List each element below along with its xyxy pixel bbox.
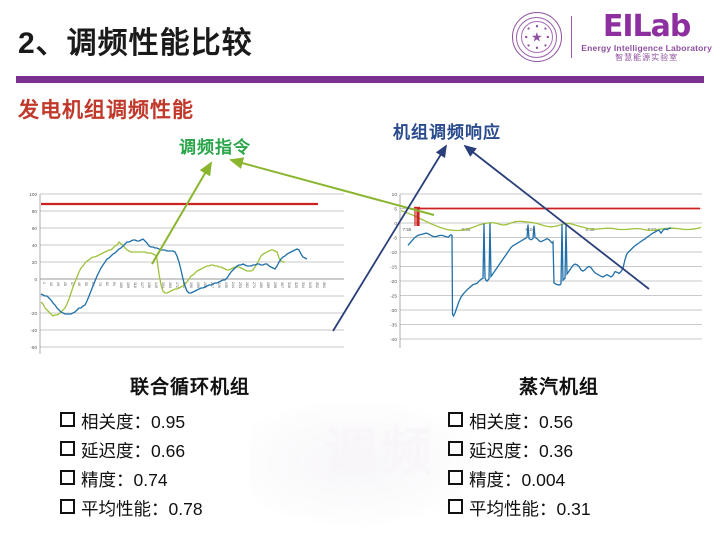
caption-combined-cycle: 联合循环机组: [130, 372, 250, 399]
svg-text:-60: -60: [30, 345, 37, 350]
checkbox-icon: [60, 412, 75, 427]
svg-text:28: 28: [63, 282, 67, 286]
svg-text:109: 109: [126, 282, 130, 288]
combined-cycle-chart: 100 80 60 40 20 0 -20 -40 -60 1 10 19 28…: [14, 186, 346, 358]
checkbox-icon: [448, 499, 463, 514]
metric-row: 相关度： 0.95: [60, 408, 203, 437]
svg-text:-30: -30: [390, 308, 397, 314]
metric-value: 0.78: [169, 495, 203, 524]
svg-text:-25: -25: [390, 294, 397, 300]
svg-text:352: 352: [315, 282, 319, 288]
svg-text:100: 100: [119, 282, 123, 288]
metrics-list-combined-cycle: 相关度： 0.95 延迟度： 0.66 精度： 0.74 平均性能： 0.78: [60, 408, 203, 524]
logo-divider: [571, 16, 573, 58]
svg-text:100: 100: [29, 192, 37, 197]
metric-label: 平均性能：: [81, 495, 169, 524]
svg-text:316: 316: [287, 282, 291, 288]
svg-text:136: 136: [147, 282, 151, 288]
checkbox-icon: [448, 470, 463, 485]
svg-text:271: 271: [252, 282, 256, 288]
metric-row: 精度： 0.004: [448, 466, 591, 495]
svg-text:262: 262: [245, 282, 249, 288]
seal-star-icon: ★: [531, 31, 543, 44]
svg-text:91: 91: [112, 282, 116, 286]
svg-text:253: 253: [238, 282, 242, 288]
checkbox-icon: [448, 412, 463, 427]
metric-row: 延迟度： 0.66: [60, 437, 203, 466]
annotation-label-command: 调频指令: [179, 133, 251, 158]
metric-row: 平均性能： 0.31: [448, 495, 591, 524]
svg-text:235: 235: [224, 282, 228, 288]
lab-logo: ★ EILab Energy Intelligence Laboratory 智…: [512, 8, 712, 66]
svg-text:289: 289: [266, 282, 270, 288]
svg-text:60: 60: [32, 226, 38, 231]
svg-text:127: 127: [140, 282, 144, 288]
metric-label: 延迟度：: [81, 437, 151, 466]
metric-label: 精度：: [81, 466, 134, 495]
checkbox-icon: [60, 499, 75, 514]
metric-label: 延迟度：: [469, 437, 539, 466]
checkbox-icon: [448, 441, 463, 456]
logo-text-block: EILab Energy Intelligence Laboratory 智慧能…: [581, 12, 712, 63]
svg-text:10: 10: [49, 282, 53, 286]
page-title: 2、调频性能比较: [18, 18, 253, 62]
metric-row: 平均性能： 0.78: [60, 495, 203, 524]
metrics-list-steam-unit: 相关度： 0.56 延迟度： 0.36 精度： 0.004 平均性能： 0.31: [448, 408, 591, 524]
header-divider-bar: [16, 76, 704, 83]
right-start-marker: [414, 207, 420, 226]
svg-text:-40: -40: [30, 328, 37, 333]
svg-text:20: 20: [32, 260, 38, 265]
svg-text:-10: -10: [390, 250, 397, 256]
metric-label: 精度：: [469, 466, 522, 495]
metric-row: 延迟度： 0.36: [448, 437, 591, 466]
svg-text:361: 361: [322, 282, 326, 288]
metric-value: 0.95: [151, 408, 185, 437]
svg-text:-5: -5: [393, 236, 398, 242]
checkbox-icon: [60, 441, 75, 456]
caption-steam-unit: 蒸汽机组: [519, 372, 599, 399]
svg-text:118: 118: [133, 282, 137, 288]
svg-text:163: 163: [168, 282, 172, 288]
checkbox-icon: [60, 470, 75, 485]
svg-text:343: 343: [308, 282, 312, 288]
svg-text:40: 40: [32, 243, 38, 248]
svg-text:5: 5: [394, 207, 397, 213]
svg-text:80: 80: [32, 209, 38, 214]
svg-text:1: 1: [42, 282, 46, 284]
metric-value: 0.36: [539, 437, 573, 466]
seal-ring-decoration: [522, 22, 552, 52]
combined-cycle-chart-svg: 100 80 60 40 20 0 -20 -40 -60 1 10 19 28…: [14, 186, 346, 358]
logo-subtitle: Energy Intelligence Laboratory: [581, 44, 712, 53]
svg-text:-20: -20: [390, 279, 397, 285]
svg-text:280: 280: [259, 282, 263, 288]
svg-text:55: 55: [84, 282, 88, 286]
svg-text:46: 46: [77, 282, 81, 286]
annotation-label-response: 机组调频响应: [393, 118, 501, 143]
svg-text:298: 298: [273, 282, 277, 288]
svg-text:19: 19: [56, 282, 60, 286]
metric-value: 0.004: [522, 466, 566, 495]
metric-row: 精度： 0.74: [60, 466, 203, 495]
slide-root: 调频 2、调频性能比较 ★ EILab Energy Intelligence …: [0, 0, 720, 540]
metric-row: 相关度： 0.56: [448, 408, 591, 437]
svg-text:-35: -35: [390, 323, 397, 329]
svg-text:172: 172: [175, 282, 179, 288]
metric-value: 0.74: [134, 466, 168, 495]
metric-value: 0.66: [151, 437, 185, 466]
svg-text:334: 334: [301, 282, 305, 288]
metric-value: 0.56: [539, 408, 573, 437]
logo-wordmark: EILab: [603, 12, 691, 42]
svg-text:145: 145: [154, 282, 158, 288]
svg-text:-20: -20: [30, 311, 37, 316]
svg-text:73: 73: [98, 282, 102, 286]
svg-text:0: 0: [394, 221, 397, 227]
university-seal-icon: ★: [512, 12, 562, 62]
svg-text:190: 190: [189, 282, 193, 288]
logo-chinese-name: 智慧能源实验室: [615, 54, 678, 62]
metric-label: 相关度：: [469, 408, 539, 437]
svg-text:244: 244: [231, 282, 235, 288]
metric-label: 相关度：: [81, 408, 151, 437]
svg-text:-40: -40: [390, 337, 397, 343]
steam-unit-chart: 10 5 0 -5 -10 -15 -20 -25 -30 -35 -40 7:…: [374, 186, 704, 358]
svg-text:-15: -15: [390, 265, 397, 271]
svg-text:82: 82: [105, 282, 109, 286]
steam-unit-chart-svg: 10 5 0 -5 -10 -15 -20 -25 -30 -35 -40 7:…: [374, 186, 704, 358]
svg-text:10: 10: [392, 192, 398, 198]
metric-label: 平均性能：: [469, 495, 557, 524]
svg-text:325: 325: [294, 282, 298, 288]
svg-text:7:55: 7:55: [403, 227, 412, 232]
svg-text:0: 0: [34, 277, 37, 282]
svg-text:199: 199: [196, 282, 200, 288]
section-title: 发电机组调频性能: [18, 94, 194, 124]
svg-text:307: 307: [280, 282, 284, 288]
metric-value: 0.31: [557, 495, 591, 524]
